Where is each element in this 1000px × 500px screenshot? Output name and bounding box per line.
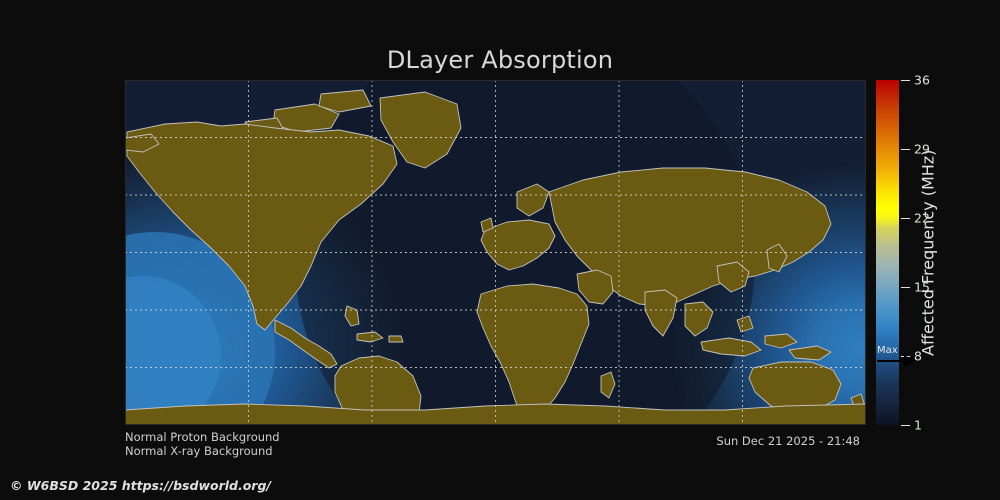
xray-background-note: Normal X-ray Background [125,444,273,458]
colorbar-tick [901,287,910,288]
world-map-panel[interactable] [125,80,866,425]
colorbar-tick [901,218,910,219]
copyright: © W6BSD 2025 https://bsdworld.org/ [10,478,271,493]
colorbar-tick [901,356,910,357]
page-title: DLayer Absorption [0,46,1000,74]
timestamp: Sun Dec 21 2025 - 21:48 [716,434,860,448]
world-map-svg [125,80,866,425]
app-root: DLayer Absorption [0,0,1000,500]
proton-background-note: Normal Proton Background [125,430,280,444]
colorbar-tick [901,149,910,150]
colorbar-title: Affected Frequency (MHz) [916,80,940,425]
colorbar[interactable]: 1815222936 [876,80,899,425]
colorbar-tick [901,425,910,426]
colorbar-gradient [876,80,899,425]
colorbar-tick [901,80,910,81]
